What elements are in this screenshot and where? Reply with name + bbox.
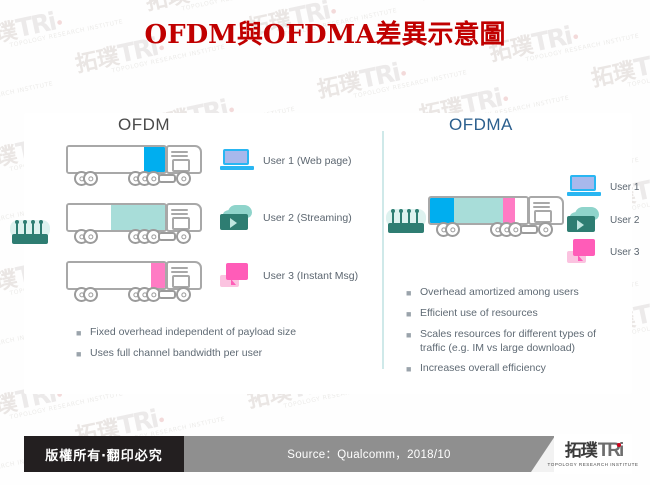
footer-bar: 版權所有‧翻印必究 Source：Qualcomm，2018/10 拓璞 TRi…	[24, 436, 632, 472]
footer-source-bar: Source：Qualcomm，2018/10	[184, 436, 554, 472]
bullet-item: ■ Uses full channel bandwidth per user	[76, 347, 366, 361]
legend-label-user1-right: User 1	[610, 182, 639, 193]
wifi-router-icon-left	[10, 220, 50, 248]
heading-ofdma: OFDMA	[449, 115, 513, 135]
tri-logo-tagline: TOPOLOGY RESEARCH INSTITUTE	[548, 462, 639, 467]
heading-ofdm: OFDM	[118, 115, 170, 135]
bullet-list-ofdma: ■ Overhead amortized among users ■ Effic…	[406, 286, 621, 383]
footer-source-text: Source：Qualcomm，2018/10	[287, 446, 451, 462]
bullet-marker: ■	[406, 307, 420, 321]
bullet-text: Scales resources for different types of …	[420, 328, 621, 355]
legend-item-user2-right: User 2	[567, 207, 639, 233]
video-cloud-icon	[220, 205, 254, 231]
truck-multiplexed	[428, 196, 568, 236]
legend-label-user2-left: User 2 (Streaming)	[263, 212, 352, 224]
bullet-text: Uses full channel bandwidth per user	[90, 347, 262, 361]
tri-logo-cjk: 拓璞	[565, 443, 597, 460]
bullet-marker: ■	[406, 286, 420, 300]
bullet-marker: ■	[76, 347, 90, 361]
footer-copyright-text: 版權所有‧翻印必究	[45, 445, 163, 464]
bullet-text: Efficient use of resources	[420, 307, 538, 321]
bullet-marker: ■	[76, 326, 90, 340]
bullet-marker: ■	[406, 362, 420, 376]
legend-item-user3-left: User 3 (Instant Msg)	[220, 263, 358, 289]
chat-bubble-icon	[220, 263, 254, 289]
legend-label-user3-left: User 3 (Instant Msg)	[263, 270, 358, 282]
bullet-item: ■ Scales resources for different types o…	[406, 328, 621, 355]
bullet-text: Fixed overhead independent of payload si…	[90, 326, 296, 340]
bullet-text: Increases overall efficiency	[420, 362, 546, 376]
tri-logo-mark: 拓璞 TRi	[565, 441, 622, 460]
page-title: OFDM與OFDMA差異示意圖	[0, 14, 650, 51]
legend-item-user3-right: User 3	[567, 239, 639, 265]
video-cloud-icon	[567, 207, 601, 233]
chat-bubble-icon	[567, 239, 601, 265]
legend-item-user2-left: User 2 (Streaming)	[220, 205, 352, 231]
slide-root: 拓璞TRi•TOPOLOGY RESEARCH INSTITUTE拓璞TRi•T…	[0, 0, 650, 485]
bullet-text: Overhead amortized among users	[420, 286, 579, 300]
truck-user3	[66, 261, 206, 301]
legend-label-user3-right: User 3	[610, 247, 639, 258]
bullet-item: ■ Overhead amortized among users	[406, 286, 621, 300]
bullet-item: ■ Efficient use of resources	[406, 307, 621, 321]
bullet-marker: ■	[406, 328, 420, 342]
bullet-item: ■ Fixed overhead independent of payload …	[76, 326, 366, 340]
truck-user2	[66, 203, 206, 243]
wifi-router-icon-right	[386, 209, 426, 237]
truck-user1	[66, 145, 206, 185]
content-panel: OFDM	[24, 113, 632, 394]
laptop-icon	[567, 175, 601, 199]
tri-logo: 拓璞 TRi TOPOLOGY RESEARCH INSTITUTE	[554, 434, 632, 474]
footer-copyright-tab: 版權所有‧翻印必究	[24, 436, 184, 472]
legend-label-user2-right: User 2	[610, 215, 639, 226]
bullet-list-ofdm: ■ Fixed overhead independent of payload …	[76, 326, 366, 368]
laptop-icon	[220, 149, 254, 173]
legend-item-user1-left: User 1 (Web page)	[220, 149, 352, 173]
legend-item-user1-right: User 1	[567, 175, 639, 199]
legend-label-user1-left: User 1 (Web page)	[263, 155, 352, 167]
bullet-item: ■ Increases overall efficiency	[406, 362, 621, 376]
section-divider	[382, 131, 384, 369]
